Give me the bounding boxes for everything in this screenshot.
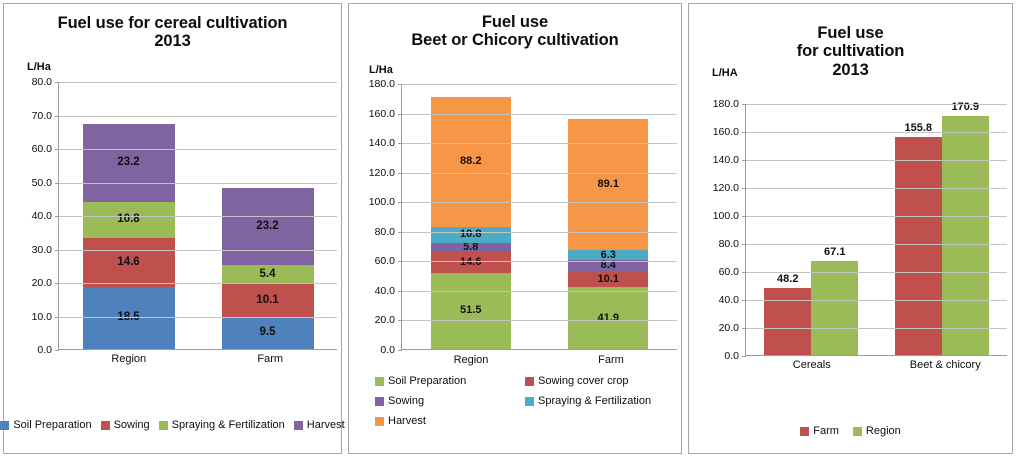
y-axis-tick-label: 30.0 [32,244,52,256]
plot-canvas: 51.514.65.810.888.241.910.18.46.389.1 [401,84,677,350]
legend-label: Sowing [388,395,424,407]
legend-label: Spraying & Fertilization [172,419,285,431]
y-axis-tick-label: 100.0 [369,196,395,208]
bar-segment[interactable]: 88.2 [431,97,511,227]
chart-title: Fuel use Beet or Chicory cultivation [349,4,681,50]
gridline [746,188,1007,189]
axis-tickmark [398,350,402,351]
x-axis-category-label: Region [401,354,541,366]
chart-title: Fuel use for cereal cultivation 2013 [4,4,341,51]
bar-segment[interactable]: 5.8 [431,243,511,252]
y-axis-unit-label: L/HA [712,67,738,79]
y-axis-tick-label: 40.0 [32,210,52,222]
chart-panel-cereal-stacked: Fuel use for cereal cultivation 2013 L/H… [3,3,342,454]
y-axis-tick-labels: 0.020.040.060.080.0100.0120.0140.0160.01… [355,84,399,350]
gridline [402,291,677,292]
legend-swatch-icon [800,427,809,436]
gridline [59,82,337,83]
chart-legend: Soil PreparationSowing cover cropSowingS… [375,375,669,427]
bar-pair: 155.8170.9 [880,104,1004,355]
axis-tickmark [398,202,402,203]
legend-item[interactable]: Sowing cover crop [525,375,669,387]
y-axis-tick-label: 180.0 [713,98,739,110]
x-axis-category-label: Farm [200,353,342,365]
y-axis-tick-label: 80.0 [375,226,395,238]
bar-value-label: 10.1 [256,295,278,307]
legend-swatch-icon [375,397,384,406]
y-axis-tick-label: 40.0 [719,294,739,306]
x-axis-category-labels: RegionFarm [58,353,341,365]
axis-tickmark [55,149,59,150]
bar-category-group: 48.267.1 [746,104,877,355]
chart-title-line: 2013 [711,61,990,79]
bar-segment[interactable]: 89.1 [568,119,648,251]
charts-page: Fuel use for cereal cultivation 2013 L/H… [0,0,1024,459]
axis-tickmark [55,317,59,318]
y-axis-tick-label: 100.0 [713,210,739,222]
axis-tickmark [55,82,59,83]
axis-tickmark [55,216,59,217]
y-axis-tick-label: 20.0 [375,314,395,326]
gridline [59,216,337,217]
bar-category-group: 155.8170.9 [877,104,1008,355]
gridline [402,84,677,85]
plot-area: 0.020.040.060.080.0100.0120.0140.0160.01… [355,84,677,350]
x-axis-category-labels: CerealsBeet & chicory [745,359,1012,371]
chart-panel-cultivation-grouped: Fuel use for cultivation 2013 L/HA 0.020… [688,3,1013,454]
bar-value-label: 88.2 [460,156,481,167]
y-axis-tick-label: 120.0 [369,167,395,179]
gridline [59,317,337,318]
bar-pair: 48.267.1 [749,104,873,355]
legend-item[interactable]: Region [853,425,901,437]
chart-title-line: for cultivation [711,42,990,60]
chart-title-line: Fuel use [711,24,990,42]
axis-tickmark [55,250,59,251]
y-axis-tick-label: 40.0 [375,285,395,297]
bar-segment[interactable]: 23.2 [83,124,175,202]
axis-tickmark [398,114,402,115]
axis-tickmark [742,328,746,329]
bar-value-label: 5.8 [463,242,478,253]
stacked-bar[interactable]: 51.514.65.810.888.2 [431,97,511,350]
legend-label: Region [866,425,901,437]
axis-tickmark [742,272,746,273]
legend-label: Soil Preparation [13,419,91,431]
plot-canvas: 48.267.1155.8170.9 [745,104,1007,356]
axis-tickmark [55,183,59,184]
axis-tickmark [742,188,746,189]
chart-panel-beet-chicory-stacked: Fuel use Beet or Chicory cultivation L/H… [348,3,682,454]
bar-segment[interactable]: 5.4 [222,265,314,283]
axis-tickmark [742,132,746,133]
y-axis-tick-label: 0.0 [380,344,395,356]
stacked-bar[interactable]: 9.510.15.423.2 [222,188,314,349]
y-axis-tick-label: 80.0 [719,238,739,250]
y-axis-tick-labels: 0.020.040.060.080.0100.0120.0140.0160.01… [699,104,743,356]
axis-tickmark [742,300,746,301]
bar[interactable]: 170.9 [942,116,989,355]
gridline [746,104,1007,105]
bar-value-label: 48.2 [777,273,798,285]
y-axis-tick-label: 0.0 [724,350,739,362]
gridline [402,114,677,115]
bar-value-label: 6.3 [601,250,616,261]
gridline [746,132,1007,133]
gridline [402,143,677,144]
axis-tickmark [55,116,59,117]
y-axis-tick-label: 160.0 [369,108,395,120]
chart-title-line: Beet or Chicory cultivation [365,31,665,49]
bar[interactable]: 155.8 [895,137,942,355]
legend-label: Harvest [388,415,426,427]
gridline [59,183,337,184]
bar-value-label: 23.2 [117,157,139,169]
axis-tickmark [742,160,746,161]
axis-tickmark [398,173,402,174]
gridline [59,283,337,284]
stacked-bar[interactable]: 41.910.18.46.389.1 [568,119,648,349]
legend-label: Farm [813,425,839,437]
axis-tickmark [742,216,746,217]
y-axis-tick-label: 80.0 [32,76,52,88]
gridline [402,261,677,262]
y-axis-tick-label: 0.0 [37,344,52,356]
axis-tickmark [55,283,59,284]
legend-label: Harvest [307,419,345,431]
x-axis-category-labels: RegionFarm [401,354,681,366]
y-axis-tick-label: 160.0 [713,126,739,138]
bar-value-label: 41.9 [598,313,619,324]
gridline [746,272,1007,273]
y-axis-unit-label: L/Ha [27,61,51,73]
gridline [746,216,1007,217]
legend-item[interactable]: Spraying & Fertilization [525,395,669,407]
y-axis-tick-label: 180.0 [369,78,395,90]
legend-item[interactable]: Harvest [294,419,345,431]
y-axis-tick-labels: 0.010.020.030.040.050.060.070.080.0 [12,82,56,350]
y-axis-tick-label: 140.0 [369,137,395,149]
bar-segment[interactable]: 10.1 [568,272,648,287]
y-axis-tick-label: 120.0 [713,182,739,194]
legend-label: Spraying & Fertilization [538,395,651,407]
legend-item[interactable]: Spraying & Fertilization [159,419,285,431]
bar-value-label: 67.1 [824,246,845,258]
gridline [402,232,677,233]
bar-segment[interactable]: 14.6 [83,238,175,287]
x-axis-category-label: Farm [541,354,681,366]
y-axis-tick-label: 20.0 [719,322,739,334]
bar-segment[interactable]: 51.5 [431,273,511,349]
bar-value-label: 5.4 [260,269,276,281]
bar-segment[interactable]: 10.1 [222,283,314,317]
bar-segment[interactable]: 23.2 [222,188,314,266]
x-axis-category-label: Region [58,353,200,365]
bar-segment[interactable]: 9.5 [222,317,314,349]
legend-label: Sowing cover crop [538,375,629,387]
gridline [59,116,337,117]
y-axis-tick-label: 70.0 [32,110,52,122]
bar-value-label: 18.5 [117,312,139,324]
legend-swatch-icon [375,417,384,426]
y-axis-tick-label: 60.0 [32,143,52,155]
legend-item[interactable]: Harvest [375,415,525,427]
axis-tickmark [742,244,746,245]
gridline [402,320,677,321]
legend-swatch-icon [101,421,110,430]
y-axis-tick-label: 60.0 [375,255,395,267]
y-axis-tick-label: 50.0 [32,177,52,189]
y-axis-tick-label: 140.0 [713,154,739,166]
bar-value-label: 14.6 [117,257,139,269]
y-axis-tick-label: 10.0 [32,311,52,323]
bar-value-label: 23.2 [256,221,278,233]
bar-segment[interactable]: 18.5 [83,287,175,349]
bar-series-container: 51.514.65.810.888.241.910.18.46.389.1 [402,84,677,349]
legend-swatch-icon [0,421,9,430]
bar-category-group: 51.514.65.810.888.2 [402,84,540,349]
axis-tickmark [398,261,402,262]
bar-value-label: 89.1 [598,179,619,190]
gridline [59,250,337,251]
bar-category-group: 41.910.18.46.389.1 [540,84,678,349]
y-axis-tick-label: 20.0 [32,277,52,289]
plot-area: 0.020.040.060.080.0100.0120.0140.0160.01… [699,104,1007,356]
gridline [746,244,1007,245]
axis-tickmark [398,291,402,292]
gridline [746,160,1007,161]
x-axis-category-label: Cereals [745,359,879,371]
chart-legend: FarmRegion [689,425,1012,437]
bar[interactable]: 48.2 [764,288,811,355]
bar-value-label: 170.9 [951,101,979,113]
chart-title-line: Fuel use for cereal cultivation [26,14,319,32]
stacked-bar[interactable]: 18.514.610.823.2 [83,124,175,349]
gridline [59,149,337,150]
axis-tickmark [398,320,402,321]
axis-tickmark [55,350,59,351]
chart-title-line: Fuel use [365,13,665,31]
legend-item[interactable]: Sowing [101,419,150,431]
chart-legend: Soil PreparationSowingSpraying & Fertili… [13,419,332,431]
chart-title-line: 2013 [26,32,319,50]
legend-swatch-icon [375,377,384,386]
bar-value-label: 9.5 [260,327,276,339]
axis-tickmark [398,232,402,233]
legend-item[interactable]: Sowing [375,395,525,407]
axis-tickmark [742,356,746,357]
gridline [402,173,677,174]
axis-tickmark [742,104,746,105]
gridline [746,328,1007,329]
bar-segment[interactable]: 10.8 [83,202,175,238]
legend-swatch-icon [853,427,862,436]
y-axis-unit-label: L/Ha [369,64,393,76]
bar-value-label: 10.1 [598,274,619,285]
legend-item[interactable]: Soil Preparation [375,375,525,387]
legend-label: Sowing [114,419,150,431]
bar[interactable]: 67.1 [811,261,858,355]
y-axis-tick-label: 60.0 [719,266,739,278]
plot-area: 0.010.020.030.040.050.060.070.080.0 18.5… [12,82,337,350]
legend-item[interactable]: Soil Preparation [0,419,91,431]
axis-tickmark [398,84,402,85]
bar-series-container: 48.267.1155.8170.9 [746,104,1007,355]
gridline [402,202,677,203]
legend-swatch-icon [159,421,168,430]
gridline [746,300,1007,301]
legend-label: Soil Preparation [388,375,466,387]
legend-item[interactable]: Farm [800,425,839,437]
bar-segment[interactable]: 10.8 [431,227,511,243]
legend-swatch-icon [525,397,534,406]
legend-swatch-icon [525,377,534,386]
bar-segment[interactable]: 41.9 [568,287,648,349]
axis-tickmark [398,143,402,144]
x-axis-category-label: Beet & chicory [879,359,1013,371]
legend-swatch-icon [294,421,303,430]
bar-value-label: 51.5 [460,305,481,316]
bar-segment[interactable]: 6.3 [568,250,648,259]
plot-canvas: 18.514.610.823.29.510.15.423.2 [58,82,337,350]
